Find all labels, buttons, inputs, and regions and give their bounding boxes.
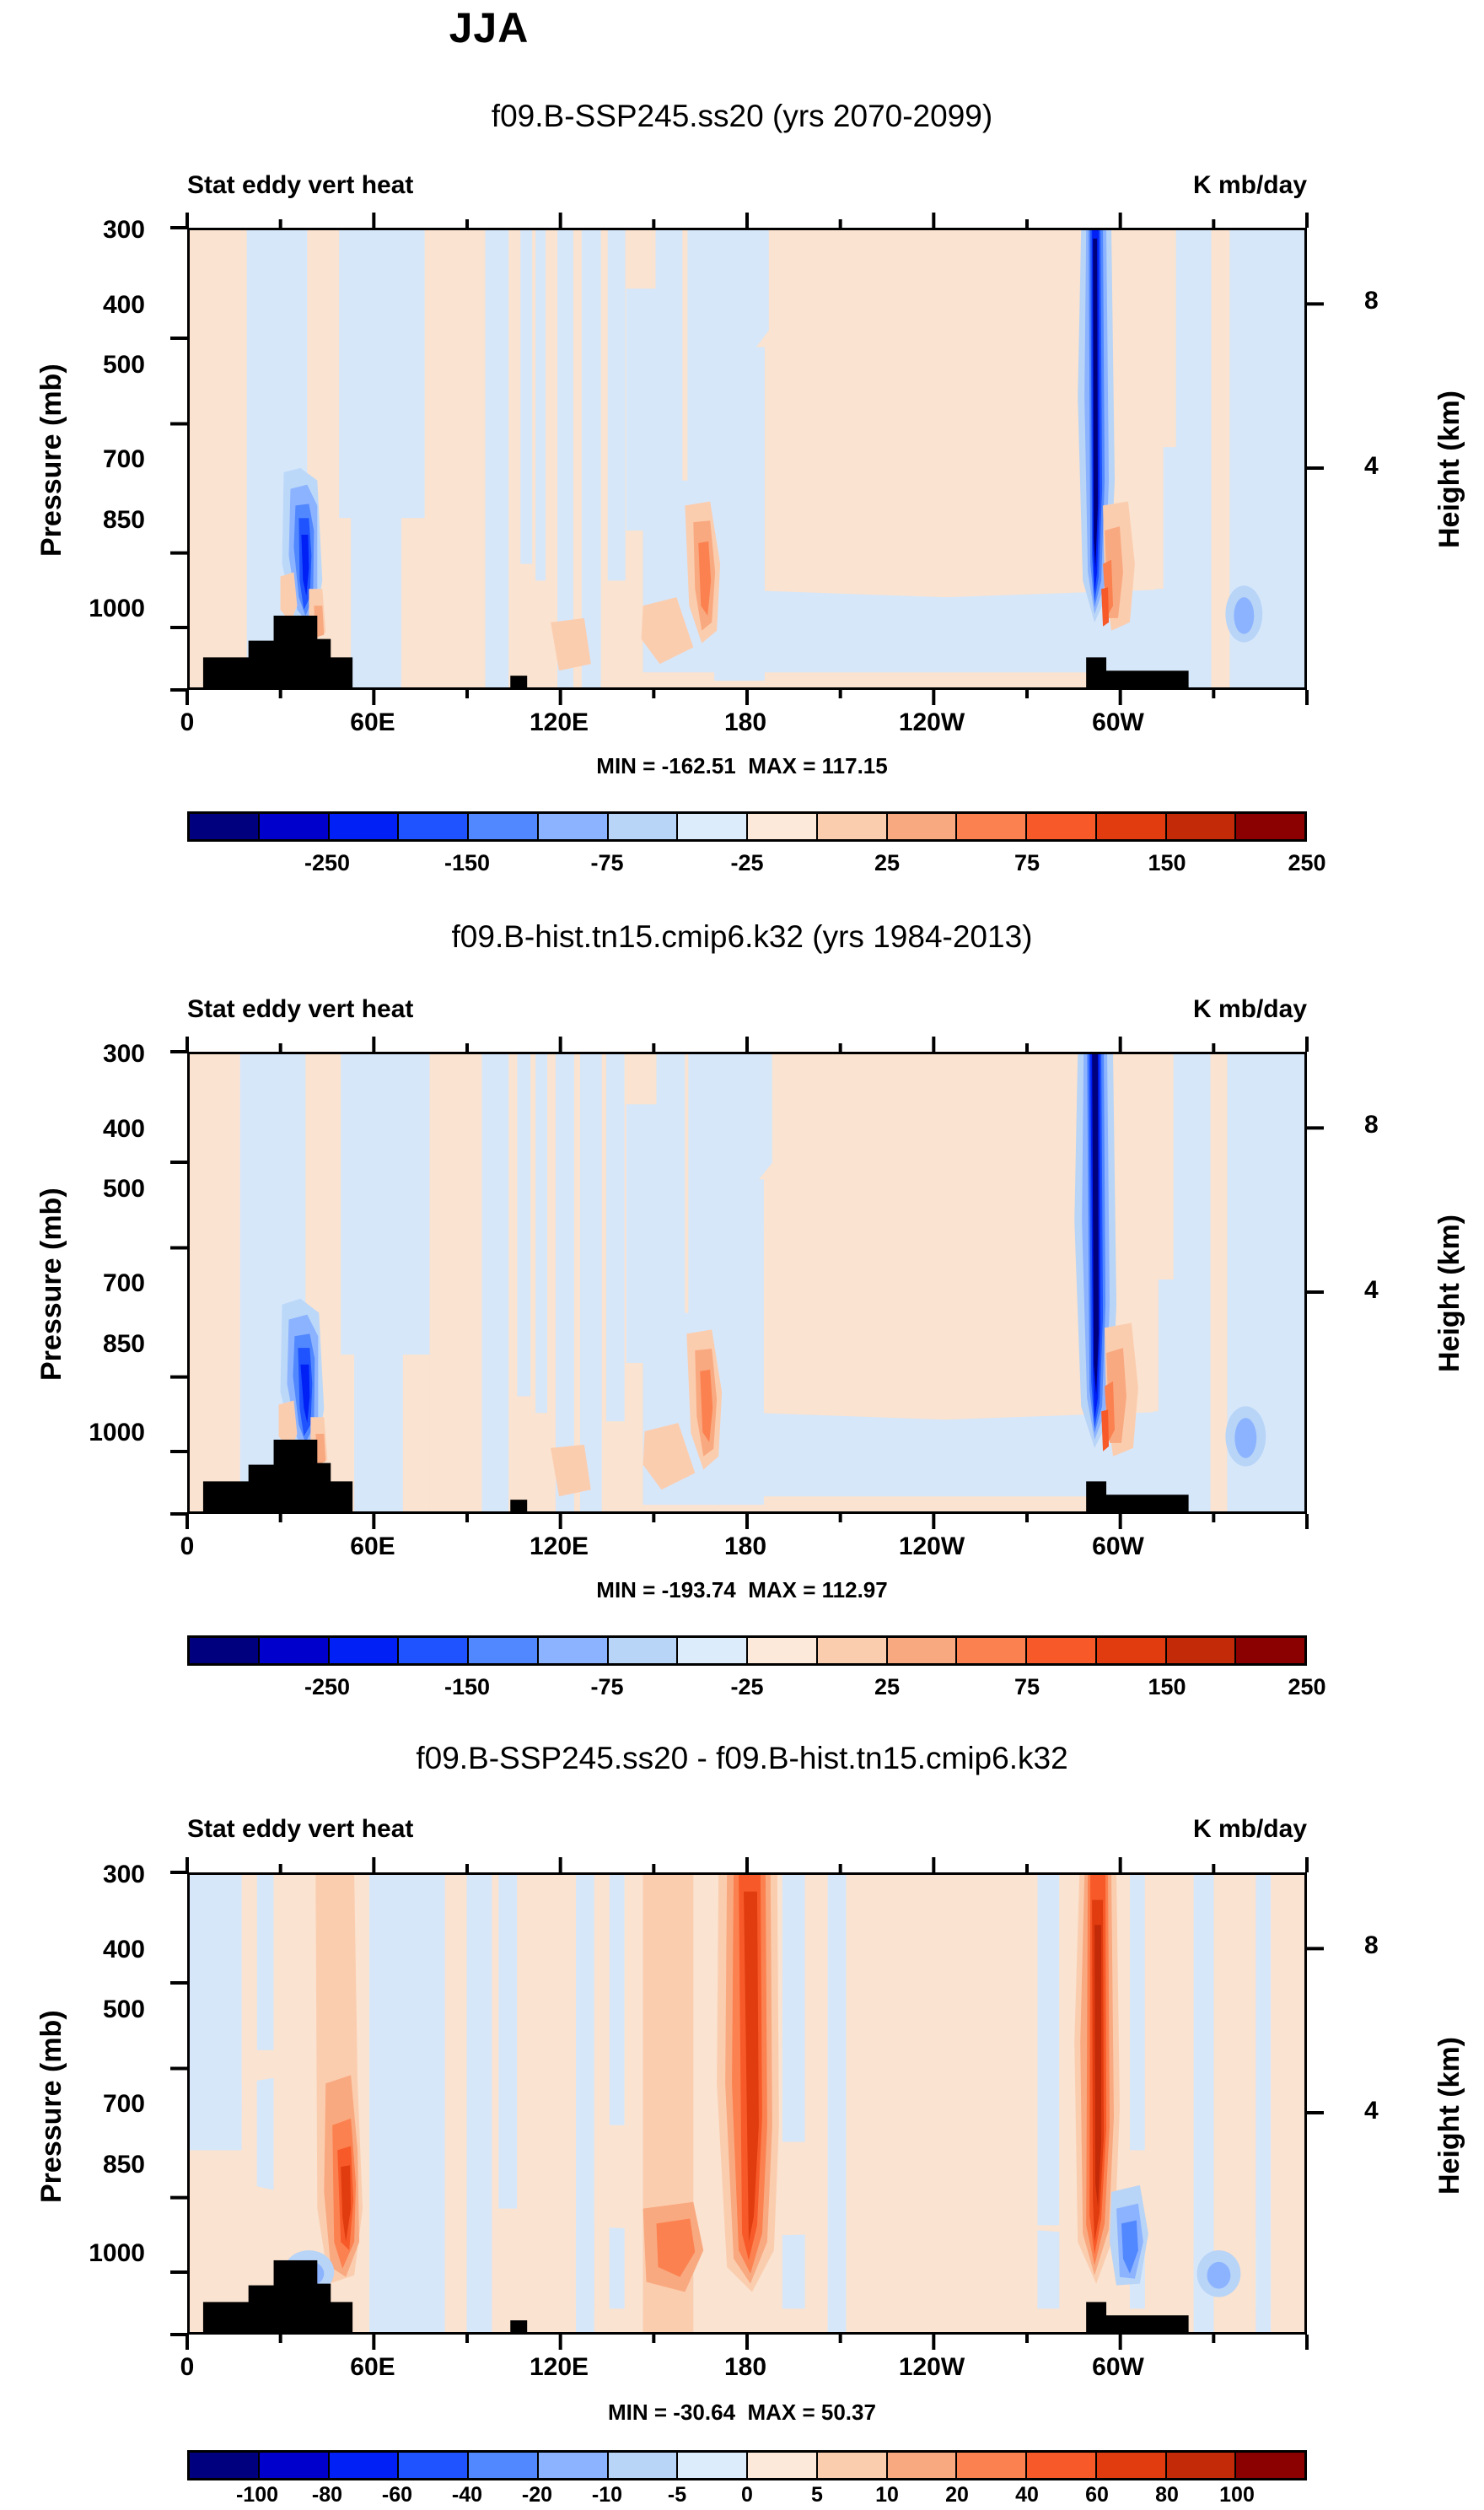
panel-bottom-contour-field: [190, 1875, 1304, 2332]
colorbar-cell: [1027, 1638, 1097, 1663]
colorbar-label: 250: [1256, 1674, 1358, 1700]
panel-bottom-xtick-4: 120W: [873, 2353, 991, 2382]
panel-top-ytick-0: 300: [44, 216, 145, 245]
colorbar-label: 75: [976, 1674, 1078, 1700]
panel-top-ytick-1: 400: [44, 291, 145, 320]
colorbar-cell: [1167, 814, 1237, 839]
colorbar-label: -150: [417, 850, 518, 876]
panel-bottom-xtick-0: 0: [128, 2353, 246, 2382]
panel-middle-contour-field: [190, 1054, 1304, 1511]
panel-top-xtick-2: 120E: [500, 708, 618, 737]
panel-middle-ytick-3: 700: [44, 1269, 145, 1298]
panel-middle-minmax: MIN = -193.74 MAX = 112.97: [0, 1577, 1484, 1603]
colorbar-cell: [678, 1638, 748, 1663]
panel-middle-quantity-label: Stat eddy vert heat: [187, 995, 413, 1024]
panel-top-ytick-2: 500: [44, 351, 145, 380]
colorbar-label: 25: [836, 1674, 938, 1700]
colorbar-cell: [888, 814, 958, 839]
colorbar-cell: [1236, 814, 1304, 839]
colorbar-label: -75: [556, 1674, 658, 1700]
colorbar-label: -250: [277, 850, 378, 876]
panel-bottom-height-tick-1: 4: [1364, 2097, 1465, 2125]
panel-bottom-quantity-label: Stat eddy vert heat: [187, 1815, 413, 1844]
panel-top-xtick-3: 180: [686, 708, 804, 737]
colorbar-cell: [469, 2453, 539, 2478]
panel-top-ytick-4: 850: [44, 506, 145, 535]
panel-middle-ytick-5: 1000: [27, 1419, 145, 1447]
panel-top-plot: [187, 228, 1307, 690]
colorbar-cell: [888, 2453, 958, 2478]
colorbar-cell: [678, 2453, 748, 2478]
panel-bottom-ytick-0: 300: [44, 1861, 145, 1889]
colorbar-label: 250: [1256, 850, 1358, 876]
panel-middle-xtick-2: 120E: [500, 1532, 618, 1561]
colorbar-cell: [330, 2453, 400, 2478]
colorbar-cell: [1097, 2453, 1167, 2478]
panel-bottom-plot: [187, 1872, 1307, 2335]
panel-middle-max: MAX = 112.97: [748, 1577, 888, 1602]
colorbar-cell: [260, 2453, 330, 2478]
colorbar-cell: [539, 814, 609, 839]
colorbar-cell: [330, 1638, 400, 1663]
panel-middle-ytick-2: 500: [44, 1175, 145, 1204]
colorbar-cell: [469, 1638, 539, 1663]
panel-middle-ytick-0: 300: [44, 1040, 145, 1069]
panel-top-min: MIN = -162.51: [596, 753, 735, 778]
panel-top-colorbar-labels: -250-150-75-252575150250: [187, 850, 1307, 881]
panel-bottom-xtick-5: 60W: [1059, 2353, 1177, 2382]
colorbar-cell: [888, 1638, 958, 1663]
panel-middle-plot: [187, 1052, 1307, 1514]
colorbar-cell: [330, 814, 400, 839]
colorbar-cell: [609, 814, 679, 839]
panel-bottom-ytick-2: 500: [44, 1996, 145, 2024]
panel-top-quantity-label: Stat eddy vert heat: [187, 171, 413, 200]
colorbar-cell: [957, 1638, 1027, 1663]
colorbar-cell: [1236, 1638, 1304, 1663]
colorbar-label: -25: [696, 1674, 798, 1700]
colorbar-cell: [1027, 814, 1097, 839]
colorbar-cell: [399, 1638, 469, 1663]
panel-middle-ytick-1: 400: [44, 1115, 145, 1144]
colorbar-label: -25: [696, 850, 798, 876]
panel-middle-xtick-1: 60E: [314, 1532, 432, 1561]
colorbar-cell: [748, 1638, 818, 1663]
colorbar-cell: [260, 1638, 330, 1663]
panel-middle-xtick-3: 180: [686, 1532, 804, 1561]
panel-bottom-min: MIN = -30.64: [608, 2400, 735, 2425]
panel-top-xtick-5: 60W: [1059, 708, 1177, 737]
panel-middle-colorbar-labels: -250-150-75-252575150250: [187, 1674, 1307, 1705]
panel-top-ytick-3: 700: [44, 445, 145, 474]
panel-bottom-xtick-2: 120E: [500, 2353, 618, 2382]
colorbar-cell: [399, 2453, 469, 2478]
panel-bottom-ytick-5: 1000: [27, 2239, 145, 2268]
colorbar-cell: [1236, 2453, 1304, 2478]
panel-bottom-max: MAX = 50.37: [747, 2400, 875, 2425]
panel-top-xtick-0: 0: [128, 708, 246, 737]
colorbar-cell: [190, 2453, 260, 2478]
panel-middle-xtick-0: 0: [128, 1532, 246, 1561]
colorbar-cell: [1097, 814, 1167, 839]
panel-bottom-colorbar-labels: -100-80-60-40-20-10-5051020406080100: [187, 2483, 1307, 2510]
colorbar-label: 150: [1116, 850, 1218, 876]
colorbar-cell: [260, 814, 330, 839]
colorbar-cell: [469, 814, 539, 839]
colorbar-cell: [1027, 2453, 1097, 2478]
panel-top-max: MAX = 117.15: [748, 753, 888, 778]
panel-bottom-colorbar[interactable]: [187, 2450, 1307, 2480]
panel-top-contour-field: [190, 230, 1304, 687]
panel-top-ytick-5: 1000: [27, 595, 145, 623]
colorbar-cell: [1167, 2453, 1237, 2478]
colorbar-label: -150: [417, 1674, 518, 1700]
panel-bottom-units-label: K mb/day: [995, 1815, 1307, 1844]
colorbar-cell: [818, 1638, 888, 1663]
colorbar-cell: [818, 814, 888, 839]
panel-middle-min: MIN = -193.74: [596, 1577, 735, 1602]
colorbar-cell: [190, 814, 260, 839]
panel-bottom-ytick-3: 700: [44, 2090, 145, 2119]
panel-top-height-tick-0: 8: [1364, 287, 1465, 315]
panel-top-units-label: K mb/day: [995, 171, 1307, 200]
page-title: JJA: [0, 3, 978, 52]
panel-middle-colorbar[interactable]: [187, 1635, 1307, 1666]
colorbar-cell: [190, 1638, 260, 1663]
panel-top-height-tick-1: 4: [1364, 452, 1465, 481]
colorbar-cell: [748, 2453, 818, 2478]
panel-top-colorbar[interactable]: [187, 811, 1307, 842]
colorbar-label: -250: [277, 1674, 378, 1700]
colorbar-label: 25: [836, 850, 938, 876]
colorbar-cell: [748, 814, 818, 839]
panel-middle-units-label: K mb/day: [995, 995, 1307, 1024]
colorbar-label: 75: [976, 850, 1078, 876]
colorbar-cell: [957, 2453, 1027, 2478]
panel-middle-subtitle: f09.B-hist.tn15.cmip6.k32 (yrs 1984-2013…: [0, 919, 1484, 955]
panel-middle-xtick-4: 120W: [873, 1532, 991, 1561]
colorbar-cell: [539, 1638, 609, 1663]
panel-bottom-subtitle: f09.B-SSP245.ss20 - f09.B-hist.tn15.cmip…: [0, 1741, 1484, 1776]
panel-top-subtitle: f09.B-SSP245.ss20 (yrs 2070-2099): [0, 99, 1484, 134]
panel-middle-ytick-4: 850: [44, 1330, 145, 1359]
colorbar-cell: [678, 814, 748, 839]
colorbar-cell: [609, 1638, 679, 1663]
panel-bottom-xtick-1: 60E: [314, 2353, 432, 2382]
panel-bottom-minmax: MIN = -30.64 MAX = 50.37: [0, 2400, 1484, 2426]
panel-bottom-xtick-3: 180: [686, 2353, 804, 2382]
panel-top-minmax: MIN = -162.51 MAX = 117.15: [0, 753, 1484, 779]
colorbar-label: 100: [1186, 2483, 1288, 2507]
panel-bottom-height-tick-0: 8: [1364, 1931, 1465, 1960]
colorbar-cell: [399, 814, 469, 839]
panel-bottom-ytick-1: 400: [44, 1936, 145, 1964]
panel-middle-height-tick-1: 4: [1364, 1276, 1465, 1305]
panel-top-xtick-4: 120W: [873, 708, 991, 737]
colorbar-cell: [609, 2453, 679, 2478]
colorbar-cell: [1097, 1638, 1167, 1663]
colorbar-cell: [539, 2453, 609, 2478]
colorbar-cell: [957, 814, 1027, 839]
panel-middle-xtick-5: 60W: [1059, 1532, 1177, 1561]
panel-bottom-ytick-4: 850: [44, 2151, 145, 2179]
colorbar-label: -75: [556, 850, 658, 876]
colorbar-cell: [1167, 1638, 1237, 1663]
colorbar-cell: [818, 2453, 888, 2478]
colorbar-label: 150: [1116, 1674, 1218, 1700]
panel-middle-height-tick-0: 8: [1364, 1111, 1465, 1139]
panel-top-xtick-1: 60E: [314, 708, 432, 737]
